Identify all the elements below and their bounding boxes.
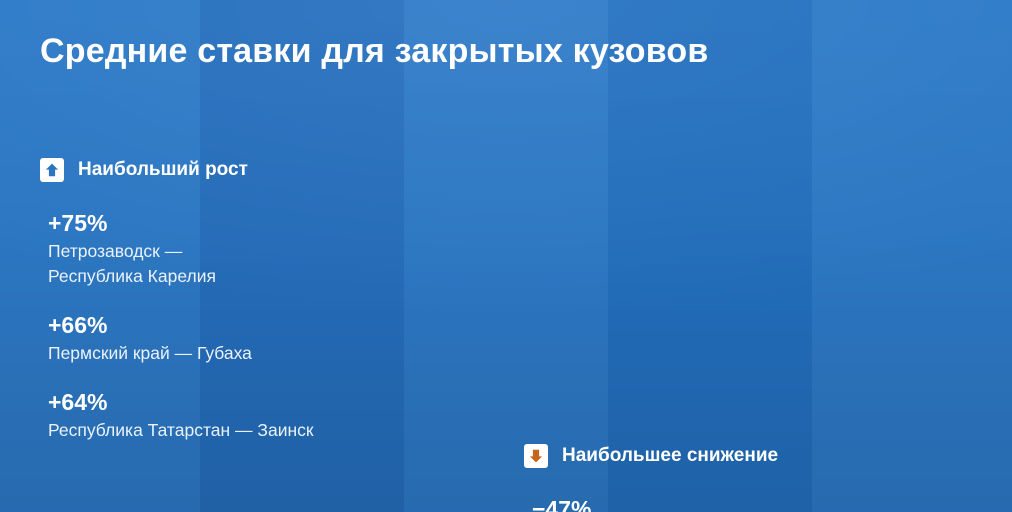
entry-value: +66% xyxy=(48,311,500,339)
list-item: +75% Петрозаводск — Республика Карелия xyxy=(40,209,500,289)
entry-label: Республика Татарстан — Заинск xyxy=(48,418,500,443)
column-decline-header: Наибольшее снижение xyxy=(524,443,994,469)
column-decline-heading: Наибольшее снижение xyxy=(562,445,778,467)
list-item: +64% Республика Татарстан — Заинск xyxy=(40,388,500,443)
arrow-up-icon xyxy=(40,158,64,182)
column-growth: Наибольший рост +75% Петрозаводск — Респ… xyxy=(40,157,500,443)
entry-value: −47% xyxy=(532,495,994,512)
column-growth-heading: Наибольший рост xyxy=(78,159,248,181)
entry-label: Пермский край — Губаха xyxy=(48,341,500,366)
entry-label: Петрозаводск — Республика Карелия xyxy=(48,239,500,289)
page-title: Средние ставки для закрытых кузовов xyxy=(40,32,1012,71)
entry-value: +75% xyxy=(48,209,500,237)
column-growth-header: Наибольший рост xyxy=(40,157,500,183)
arrow-down-icon xyxy=(524,444,548,468)
list-item: +66% Пермский край — Губаха xyxy=(40,311,500,366)
list-item: −47% Владимирская обл. — Приморский край xyxy=(524,495,994,512)
entry-value: +64% xyxy=(48,388,500,416)
column-decline: Наибольшее снижение −47% Владимирская об… xyxy=(524,443,994,512)
slide-root: Средние ставки для закрытых кузовов Наиб… xyxy=(0,0,1012,512)
